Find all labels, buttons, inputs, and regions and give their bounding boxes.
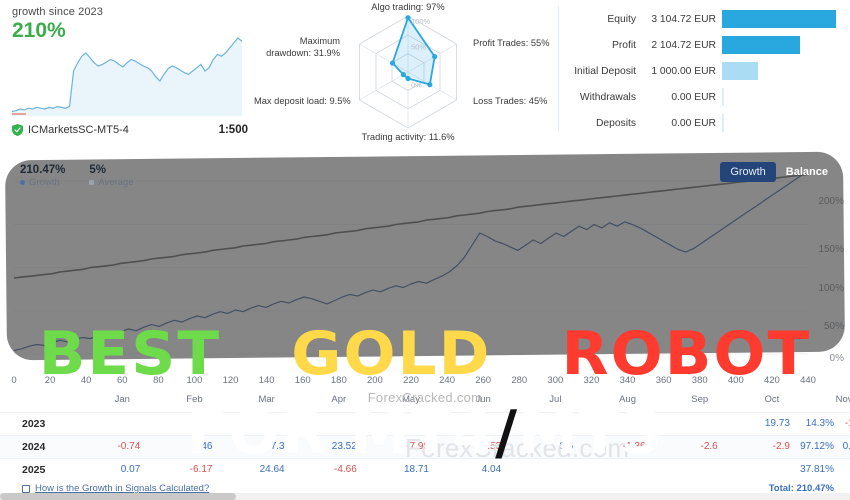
legend-item-average: 5% Average [89,164,133,188]
svg-text:0%: 0% [411,81,422,90]
legend-average-label: Average [98,177,133,188]
headline-word-gold: GOLD [291,319,491,389]
stat-bar [722,10,836,28]
stat-row: Withdrawals0.00 EUR [558,84,850,110]
stat-label: Initial Deposit [558,66,636,77]
stat-bar-area [722,110,850,136]
headline-word-best: BEST [39,319,221,389]
stat-bar [722,114,724,132]
legend-growth-label: Growth [29,177,60,188]
svg-text:100%: 100% [411,17,431,26]
stat-row: Deposits0.00 EUR [558,110,850,136]
stat-row: Equity3 104.72 EUR [558,6,850,32]
promo-headline-line2: FOR MT4/MT5 [0,398,850,468]
stat-row: Profit2 104.72 EUR [558,32,850,58]
stat-bar [722,36,800,54]
info-icon [22,485,30,493]
chart-legend: 210.47% Growth 5% Average [20,164,134,188]
summary-header: growth since 2023 210% ICMarketsSC-MT5-4… [0,0,850,150]
growth-sparkline [12,34,242,116]
headline-word-robot: ROBOT [561,319,811,389]
stats-axis-line [558,6,559,131]
account-row: ICMarketsSC-MT5-4 1:500 [12,124,248,136]
leverage-value: 1:500 [219,124,248,136]
radar-label-profit-trades: Profit Trades: 55% [473,38,549,50]
growth-since-label: growth since 2023 [12,6,248,18]
stat-bar-area [722,32,850,58]
promo-headline-line1: BEST GOLD ROBOT [0,326,850,382]
stat-label: Equity [558,14,636,25]
legend-average-marker-icon [89,180,94,185]
verified-shield-icon [12,124,23,136]
radar-label-trading-activity: Trading activity: 11.6% [361,132,454,144]
headline-mt5: MT5 [518,398,663,468]
legend-average-value: 5% [89,164,133,176]
svg-text:50%: 50% [411,43,426,52]
legend-item-growth: 210.47% Growth [20,164,65,188]
tab-growth[interactable]: Growth [720,162,775,182]
radar-chart: 100%50%0% Algo trading: 97% Profit Trade… [258,0,558,150]
stat-value: 0.00 EUR [636,92,722,103]
radar-label-max-deposit-load: Max deposit load: 9.5% [254,96,340,108]
stat-bar-area [722,6,850,32]
radar-label-maximum-drawdown: Maximum drawdown: 31.9% [254,36,340,59]
stat-label: Deposits [558,118,636,129]
account-stats-panel: Equity3 104.72 EURProfit2 104.72 EURInit… [558,0,850,150]
stat-bar-area [722,58,850,84]
headline-slash: / [495,398,518,468]
horizontal-scrollbar[interactable] [0,493,850,500]
account-name: ICMarketsSC-MT5-4 [28,124,129,136]
stat-value: 0.00 EUR [636,118,722,129]
radar-label-loss-trades: Loss Trades: 45% [473,96,547,108]
legend-growth-marker-icon [20,180,25,185]
chart-mode-toggle[interactable]: Growth Balance [720,162,838,182]
growth-chart-panel: 210.47% Growth 5% Average Growth Balance… [0,150,850,370]
radar-chart-svg: 100%50%0% [258,0,558,150]
headline-for-mt4: FOR MT4 [187,398,495,468]
radar-label-algo-trading: Algo trading: 97% [371,2,444,14]
scrollbar-thumb[interactable] [0,493,236,500]
tab-balance[interactable]: Balance [776,162,838,182]
stat-label: Withdrawals [558,92,636,103]
stat-value: 2 104.72 EUR [636,40,722,51]
stat-value: 1 000.00 EUR [636,66,722,77]
stat-row: Initial Deposit1 000.00 EUR [558,58,850,84]
stat-label: Profit [558,40,636,51]
stat-value: 3 104.72 EUR [636,14,722,25]
stat-bar [722,62,758,80]
legend-growth-value: 210.47% [20,164,65,176]
stat-bar-area [722,84,850,110]
stat-bar [722,88,724,106]
growth-summary-card: growth since 2023 210% ICMarketsSC-MT5-4… [0,0,258,150]
